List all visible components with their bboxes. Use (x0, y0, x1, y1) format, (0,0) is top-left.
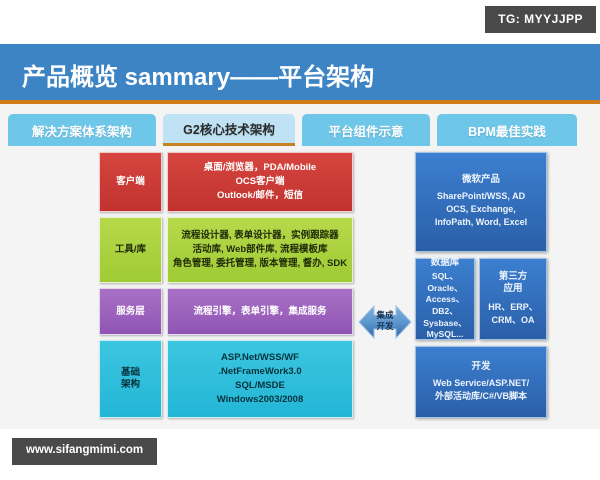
layer-content-client: 桌面/浏览器，PDA/MobileOCS客户端Outlook/邮件，短信 (167, 152, 353, 212)
box-content: SharePoint/WSS, ADOCS, Exchange,InfoPath… (435, 190, 527, 229)
box-heading: 开发 (471, 361, 490, 373)
architecture-diagram: 客户端 桌面/浏览器，PDA/MobileOCS客户端Outlook/邮件，短信… (0, 148, 600, 429)
presentation-slide: 产品概览 sammary——平台架构 解决方案体系架构 G2核心技术架构 平台组… (0, 44, 600, 429)
layer-content-tools: 流程设计器, 表单设计器，实例跟踪器活动库, Web部件库, 流程模板库角色管理… (167, 217, 353, 283)
double-headed-horizontal-arrow-icon (357, 293, 413, 351)
box-third-party-applications: 第三方应用 HR、ERP、CRM、OA (479, 258, 547, 340)
tab-label: BPM最佳实践 (468, 121, 546, 140)
layer-content-foundation: ASP.Net/WSS/WF.NetFrameWork3.0SQL/MSDEWi… (167, 340, 353, 418)
external-systems-stack: 微软产品 SharePoint/WSS, ADOCS, Exchange,Inf… (415, 152, 547, 418)
integration-connector: 集成开发 (357, 293, 413, 351)
tab-bar: 解决方案体系架构 G2核心技术架构 平台组件示意 BPM最佳实践 (8, 114, 592, 146)
slide-title-bar: 产品概览 sammary——平台架构 (0, 44, 600, 104)
box-development: 开发 Web Service/ASP.NET/外部活动库/C#/VB脚本 (415, 346, 547, 418)
tab-label: G2核心技术架构 (183, 119, 275, 138)
box-database: 数据库 SQL、Oracle、Access、DB2、Sysbase、MySQL.… (415, 258, 475, 340)
tab-g2-core-technology-architecture[interactable]: G2核心技术架构 (163, 114, 295, 146)
layer-row-client: 客户端 桌面/浏览器，PDA/MobileOCS客户端Outlook/邮件，短信 (99, 152, 353, 212)
layer-row-foundation: 基础架构 ASP.Net/WSS/WF.NetFrameWork3.0SQL/M… (99, 340, 353, 418)
layer-row-service: 服务层 流程引擎，表单引擎，集成服务 (99, 288, 353, 335)
layer-label-service: 服务层 (99, 288, 162, 335)
layer-row-tools: 工具/库 流程设计器, 表单设计器，实例跟踪器活动库, Web部件库, 流程模板… (99, 217, 353, 283)
box-content: HR、ERP、CRM、OA (488, 301, 538, 327)
box-heading: 数据库 (431, 257, 460, 269)
tab-solution-architecture[interactable]: 解决方案体系架构 (8, 114, 156, 146)
tab-platform-components[interactable]: 平台组件示意 (302, 114, 430, 146)
platform-layer-stack: 客户端 桌面/浏览器，PDA/MobileOCS客户端Outlook/邮件，短信… (99, 152, 353, 418)
tab-bpm-best-practice[interactable]: BPM最佳实践 (437, 114, 577, 146)
tab-label: 平台组件示意 (328, 121, 403, 140)
tab-label: 解决方案体系架构 (32, 121, 132, 140)
box-microsoft-products: 微软产品 SharePoint/WSS, ADOCS, Exchange,Inf… (415, 152, 547, 252)
box-heading: 第三方应用 (499, 271, 528, 296)
site-watermark-badge: www.sifangmimi.com (12, 438, 157, 465)
layer-label-client: 客户端 (99, 152, 162, 212)
layer-label-tools: 工具/库 (99, 217, 162, 283)
page-title: 产品概览 sammary——平台架构 (22, 57, 374, 92)
box-heading: 微软产品 (462, 174, 500, 186)
layer-label-foundation: 基础架构 (99, 340, 162, 418)
box-content: Web Service/ASP.NET/外部活动库/C#/VB脚本 (433, 377, 529, 403)
telegram-watermark-badge: TG: MYYJJPP (485, 6, 596, 33)
box-content: SQL、Oracle、Access、DB2、Sysbase、MySQL... (423, 271, 466, 341)
layer-content-service: 流程引擎，表单引擎，集成服务 (167, 288, 353, 335)
